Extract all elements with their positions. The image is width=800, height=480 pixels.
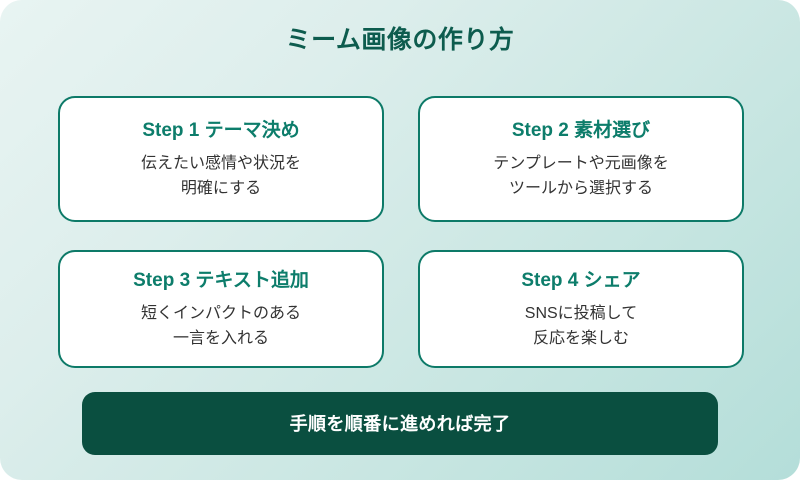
step-card-4: Step 4 シェア SNSに投稿して 反応を楽しむ	[418, 250, 744, 368]
infographic-canvas: ミーム画像の作り方 Step 1 テーマ決め 伝えたい感情や状況を 明確にする …	[0, 0, 800, 480]
step-card-2-body: テンプレートや元画像を ツールから選択する	[493, 151, 669, 201]
step-card-3-body-line-2: 一言を入れる	[141, 326, 301, 351]
conclusion-banner-text: 手順を順番に進めれば完了	[290, 412, 511, 436]
page-title: ミーム画像の作り方	[0, 24, 800, 56]
step-card-3-heading: Step 3 テキスト追加	[133, 268, 309, 294]
step-card-1-heading: Step 1 テーマ決め	[142, 118, 299, 144]
step-card-2-body-line-1: テンプレートや元画像を	[493, 151, 669, 176]
step-card-4-body: SNSに投稿して 反応を楽しむ	[525, 301, 637, 351]
step-card-1-body-line-1: 伝えたい感情や状況を	[141, 151, 301, 176]
step-card-3-body-line-1: 短くインパクトのある	[141, 301, 301, 326]
step-card-2: Step 2 素材選び テンプレートや元画像を ツールから選択する	[418, 96, 744, 222]
step-card-3: Step 3 テキスト追加 短くインパクトのある 一言を入れる	[58, 250, 384, 368]
step-card-2-body-line-2: ツールから選択する	[493, 176, 669, 201]
step-card-2-heading: Step 2 素材選び	[512, 118, 650, 144]
step-card-4-body-line-2: 反応を楽しむ	[525, 326, 637, 351]
step-card-4-heading: Step 4 シェア	[521, 268, 640, 294]
step-card-1-body-line-2: 明確にする	[141, 176, 301, 201]
step-card-4-body-line-1: SNSに投稿して	[525, 301, 637, 326]
step-card-3-body: 短くインパクトのある 一言を入れる	[141, 301, 301, 351]
step-card-1-body: 伝えたい感情や状況を 明確にする	[141, 151, 301, 201]
conclusion-banner: 手順を順番に進めれば完了	[82, 392, 718, 455]
step-card-1: Step 1 テーマ決め 伝えたい感情や状況を 明確にする	[58, 96, 384, 222]
